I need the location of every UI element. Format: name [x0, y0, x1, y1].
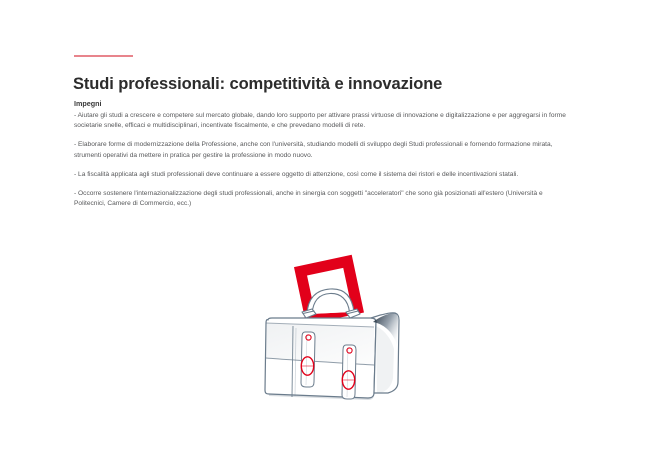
page-title: Studi professionali: competitività e inn…: [73, 74, 613, 94]
slide-canvas: Studi professionali: competitività e inn…: [0, 0, 660, 470]
bag-body: [265, 313, 399, 400]
briefcase-illustration: [250, 250, 415, 415]
strap-left: [301, 332, 315, 387]
bullet-paragraph-4: - Occorre sostenere l'internazionalizzaz…: [74, 189, 574, 209]
bullet-paragraph-3: - La fiscalità applicata agli studi prof…: [74, 170, 574, 180]
bullet-paragraph-2: - Elaborare forme di modernizzazione del…: [74, 140, 574, 160]
strap-right: [342, 345, 356, 399]
accent-rule: [74, 55, 133, 57]
section-label-impegni: Impegni: [74, 99, 574, 108]
bullet-paragraph-1: - Aiutare gli studi a crescere e compete…: [74, 111, 574, 131]
body-text-block: Impegni - Aiutare gli studi a crescere e…: [74, 99, 574, 209]
